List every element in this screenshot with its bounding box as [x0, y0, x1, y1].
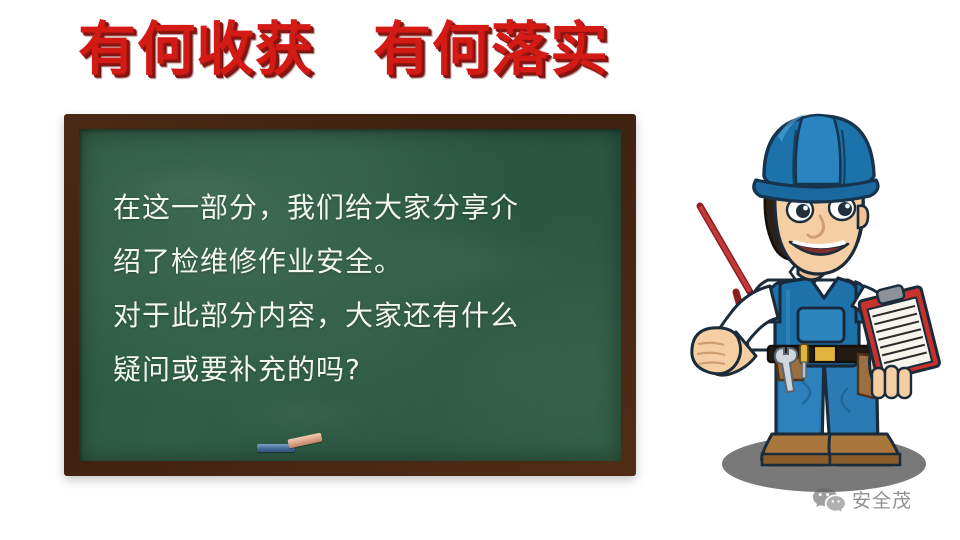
hard-hat — [754, 114, 878, 202]
watermark-label: 安全茂 — [852, 486, 912, 513]
blackboard: 在这一部分，我们给大家分享介 绍了检维修作业安全。 对于此部分内容，大家还有什么… — [64, 114, 636, 476]
watermark: 安全茂 — [812, 486, 912, 513]
blackboard-surface: 在这一部分，我们给大家分享介 绍了检维修作业安全。 对于此部分内容，大家还有什么… — [79, 129, 621, 461]
clipboard-fingers — [872, 366, 911, 398]
boots — [762, 434, 900, 465]
wechat-icon — [812, 487, 846, 513]
fist — [692, 328, 741, 374]
blackboard-text: 在这一部分，我们给大家分享介 绍了检维修作业安全。 对于此部分内容，大家还有什么… — [113, 181, 607, 397]
worker-illustration — [672, 96, 960, 516]
slide-canvas: 有何收获 有何落实 在这一部分，我们给大家分享介 绍了检维修作业安全。 对于此部… — [0, 0, 960, 540]
page-title: 有何收获 有何落实 — [78, 16, 609, 83]
